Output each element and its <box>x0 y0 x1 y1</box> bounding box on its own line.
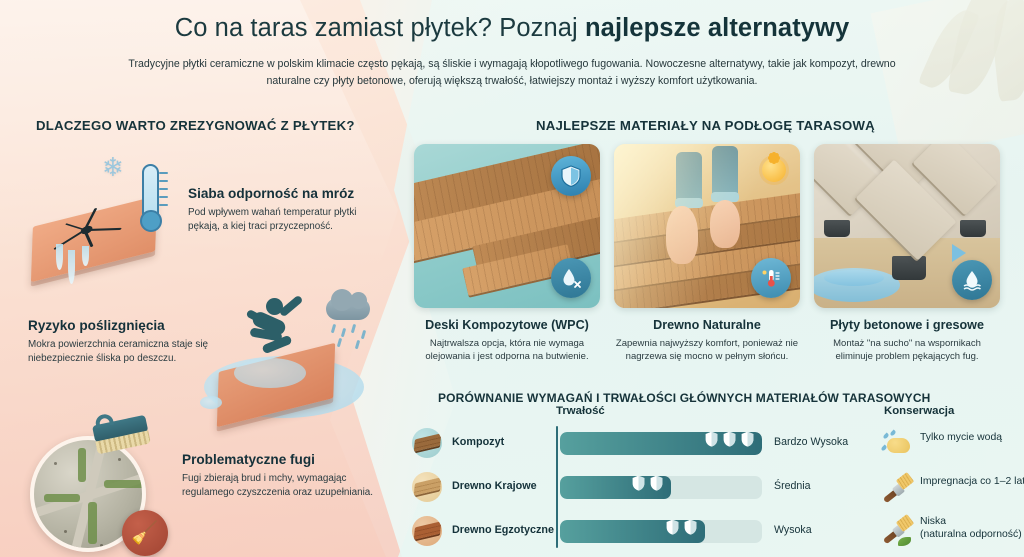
dirt-speck <box>100 544 103 547</box>
paintbrush-icon <box>882 473 914 502</box>
material-title: Drewno Naturalne <box>614 318 800 333</box>
water-waves-glyph <box>961 269 983 291</box>
row-label: Drewno Krajowe <box>452 480 537 492</box>
water-drainage-icon <box>952 260 992 300</box>
pedestal-support-icon <box>892 256 926 280</box>
shield-icon <box>723 431 736 447</box>
maintenance-line-2: (naturalna odporność) <box>920 529 1022 540</box>
shield-icon <box>684 519 697 535</box>
plank-glyph <box>414 521 441 539</box>
shield-rating-group <box>632 475 663 491</box>
page-title: Co na taras zamiast płytek? Poznaj najle… <box>0 14 1024 43</box>
drawback-desc: Fugi zbierają brud i mchy, wymagając reg… <box>182 472 387 500</box>
drawback-title: Siaba odporność na mróz <box>188 186 388 202</box>
durability-value-label: Średnia <box>774 480 811 492</box>
thermometer-icon <box>142 164 159 222</box>
durability-value-label: Bardzo Wysoka <box>774 436 848 448</box>
puddle-icon <box>234 358 306 388</box>
section-heading-comparison: PORÓWNANIE WYMAGAŃ I TRWAŁOŚCI GŁÓWNYCH … <box>438 391 930 405</box>
drawback-desc: Pod wpływem wahań temperatur płytki pęka… <box>188 206 388 234</box>
composite-material-icon <box>412 428 442 458</box>
material-thumbnail-wpc <box>414 144 600 308</box>
material-thumbnail-concrete <box>814 144 1000 308</box>
maintenance-label: Tylko mycie wodą <box>920 431 1002 444</box>
water-droplet <box>880 444 887 451</box>
material-card-natural-wood[interactable]: Drewno Naturalne Zapewnia najwyższy komf… <box>614 144 800 364</box>
drawback-desc: Mokra powierzchnia ceramiczna staje się … <box>28 338 218 366</box>
maintenance-label: Impregnacja co 1–2 lata <box>920 475 1024 488</box>
shield-icon <box>741 431 754 447</box>
material-thumbnail-wood <box>614 144 800 308</box>
paintbrush-leaf-icon <box>882 517 914 546</box>
moss-patch <box>78 448 86 482</box>
material-desc: Zapewnia najwyższy komfort, ponieważ nie… <box>614 337 800 364</box>
sun-glyph <box>762 158 786 182</box>
page-subtitle: Tradycyjne płytki ceramiczne w polskim k… <box>117 56 907 90</box>
domestic-wood-icon <box>412 472 442 502</box>
column-header-durability: Trwałość <box>556 405 605 417</box>
pedestal-support-icon <box>824 220 850 237</box>
page-title-normal: Co na taras zamiast płytek? Poznaj <box>175 14 585 42</box>
maintenance-line-1: Niska <box>920 516 946 527</box>
thermometer-glyph <box>760 267 782 289</box>
sponge-glyph <box>887 438 910 453</box>
water-flow-arrow-icon <box>952 244 966 262</box>
thermometer-tick <box>159 204 168 206</box>
shield-icon <box>705 431 718 447</box>
header: Co na taras zamiast płytek? Poznaj najle… <box>0 14 1024 91</box>
thermometer-bulb <box>140 210 162 232</box>
table-row[interactable]: Kompozyt Bardzo Wysoka Tylko mycie wodą <box>412 427 1018 460</box>
raindrop-icon <box>355 340 360 349</box>
leaf-icon <box>898 537 911 546</box>
slipping-illustration <box>198 300 388 425</box>
thermometer-tick <box>159 172 168 174</box>
rain-cloud-icon <box>326 298 370 320</box>
material-desc: Montaż "na sucho" na wspornikach eliminu… <box>814 337 1000 364</box>
raindrop-icon <box>351 324 356 333</box>
icicle-icon <box>68 250 75 284</box>
durability-value-label: Wysoka <box>774 524 812 536</box>
drawback-item-grout: Problematyczne fugi Fugi zbierają brud i… <box>182 452 387 500</box>
sponge-icon <box>882 429 914 458</box>
table-row[interactable]: Drewno Krajowe Średnia Impregnacja co 1–… <box>412 471 1018 504</box>
shield-icon <box>650 475 663 491</box>
section-heading-drawbacks: DLACZEGO WARTO ZREZYGNOWAĆ Z PŁYTEK? <box>36 118 355 133</box>
crack-center <box>81 225 93 236</box>
material-title: Deski Kompozytowe (WPC) <box>414 318 600 333</box>
snowflake-icon: ❄ <box>102 154 124 180</box>
page-title-emphasis: najlepsze alternatywy <box>585 14 849 42</box>
exotic-wood-icon <box>412 516 442 546</box>
water-drop-glyph <box>560 267 582 289</box>
raindrop-icon <box>341 328 346 337</box>
column-header-maintenance: Konserwacja <box>884 405 954 417</box>
raindrop-icon <box>331 324 336 333</box>
sun-icon <box>754 150 794 190</box>
cracked-tile-icon <box>31 196 157 282</box>
icicle-icon <box>82 246 89 266</box>
water-droplet <box>889 429 896 436</box>
shield-rating-group <box>666 519 697 535</box>
table-row[interactable]: Drewno Egzotyczne Wysoka Niska (naturaln… <box>412 515 1018 548</box>
dirt-speck <box>118 458 121 461</box>
thermometer-icon <box>751 258 791 298</box>
dirt-speck <box>54 462 57 465</box>
icicle-icon <box>56 244 63 270</box>
material-desc: Najtrwalsza opcja, która nie wymaga olej… <box>414 337 600 364</box>
water-repellent-icon <box>551 258 591 298</box>
moss-patch <box>44 494 80 502</box>
thermometer-tick <box>159 180 168 182</box>
dirt-speck <box>64 530 67 533</box>
shield-icon <box>551 156 591 196</box>
mossy-grout-illustration: 🧹 <box>30 430 190 555</box>
durability-bar-track <box>560 520 762 543</box>
drawback-item-frost: Siaba odporność na mróz Pod wpływem waha… <box>188 186 388 234</box>
cracked-tile-illustration: ❄ <box>24 158 194 288</box>
water-drainage-icon <box>824 270 884 286</box>
material-title: Płyty betonowe i gresowe <box>814 318 1000 333</box>
material-card-wpc[interactable]: Deski Kompozytowe (WPC) Najtrwalsza opcj… <box>414 144 600 364</box>
puddle-icon <box>200 396 222 409</box>
thermometer-tick <box>159 196 168 198</box>
water-droplet <box>882 432 889 439</box>
drawback-title: Problematyczne fugi <box>182 452 387 468</box>
moss-patch <box>104 480 144 488</box>
shield-glyph <box>561 165 581 187</box>
maintenance-label: Niska (naturalna odporność) <box>920 515 1022 542</box>
broom-badge-icon: 🧹 <box>122 510 168 556</box>
drawback-item-slip: Ryzyko poślizgnięcia Mokra powierzchnia … <box>28 318 218 366</box>
moss-patch <box>88 502 97 544</box>
raindrop-icon <box>361 330 366 339</box>
row-label: Drewno Egzotyczne <box>452 524 554 536</box>
section-heading-materials: NAJLEPSZE MATERIAŁY NA PODŁOGĘ TARASOWĄ <box>536 118 875 133</box>
pedestal-support-icon <box>960 220 986 237</box>
plank-glyph <box>414 433 441 451</box>
shield-icon <box>632 475 645 491</box>
plank-glyph <box>414 477 441 495</box>
infographic-canvas: Co na taras zamiast płytek? Poznaj najle… <box>0 0 1024 557</box>
shield-icon <box>666 519 679 535</box>
row-label: Kompozyt <box>452 436 504 448</box>
material-card-concrete[interactable]: Płyty betonowe i gresowe Montaż "na such… <box>814 144 1000 364</box>
drawback-title: Ryzyko poślizgnięcia <box>28 318 218 334</box>
thermometer-tick <box>159 188 168 190</box>
shield-rating-group <box>705 431 754 447</box>
raindrop-icon <box>337 338 342 347</box>
